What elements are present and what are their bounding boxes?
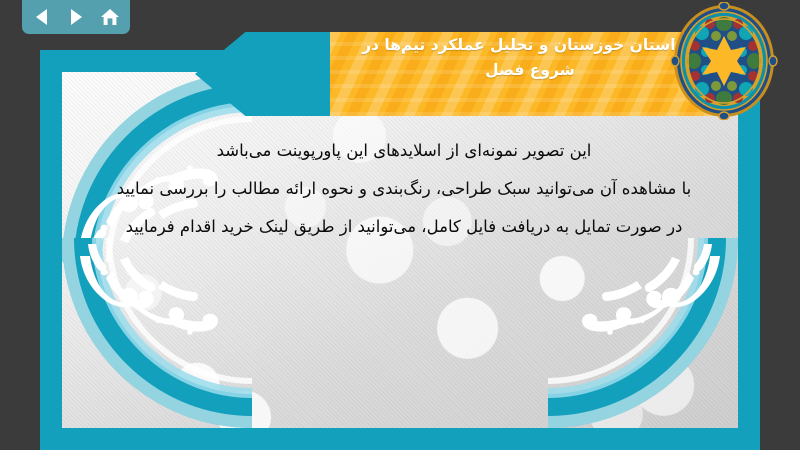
slide-navigation-bar [22,0,130,34]
previous-slide-button[interactable] [27,3,57,31]
slide-body-text: این تصویر نمونه‌ای از اسلایدهای این پاور… [70,132,738,246]
corner-ornament-bottom-left [62,238,252,428]
body-line-3: در صورت تمایل به دریافت فایل کامل، می‌تو… [70,208,738,246]
slide-canvas [40,50,760,450]
home-button[interactable] [95,3,125,31]
body-line-2: با مشاهده آن می‌توانید سبک طراحی، رنگ‌بن… [70,170,738,208]
home-icon [100,7,120,27]
triangle-right-icon [67,7,85,27]
body-line-1: این تصویر نمونه‌ای از اسلایدهای این پاور… [70,132,738,170]
corner-ornament-bottom-right [548,238,738,428]
triangle-left-icon [33,7,51,27]
slide-content-panel [62,72,738,428]
presentation-viewer: بررسی آغاز پرگل هفته اول لیگ برتر فوتبال… [0,0,800,450]
next-slide-button[interactable] [61,3,91,31]
